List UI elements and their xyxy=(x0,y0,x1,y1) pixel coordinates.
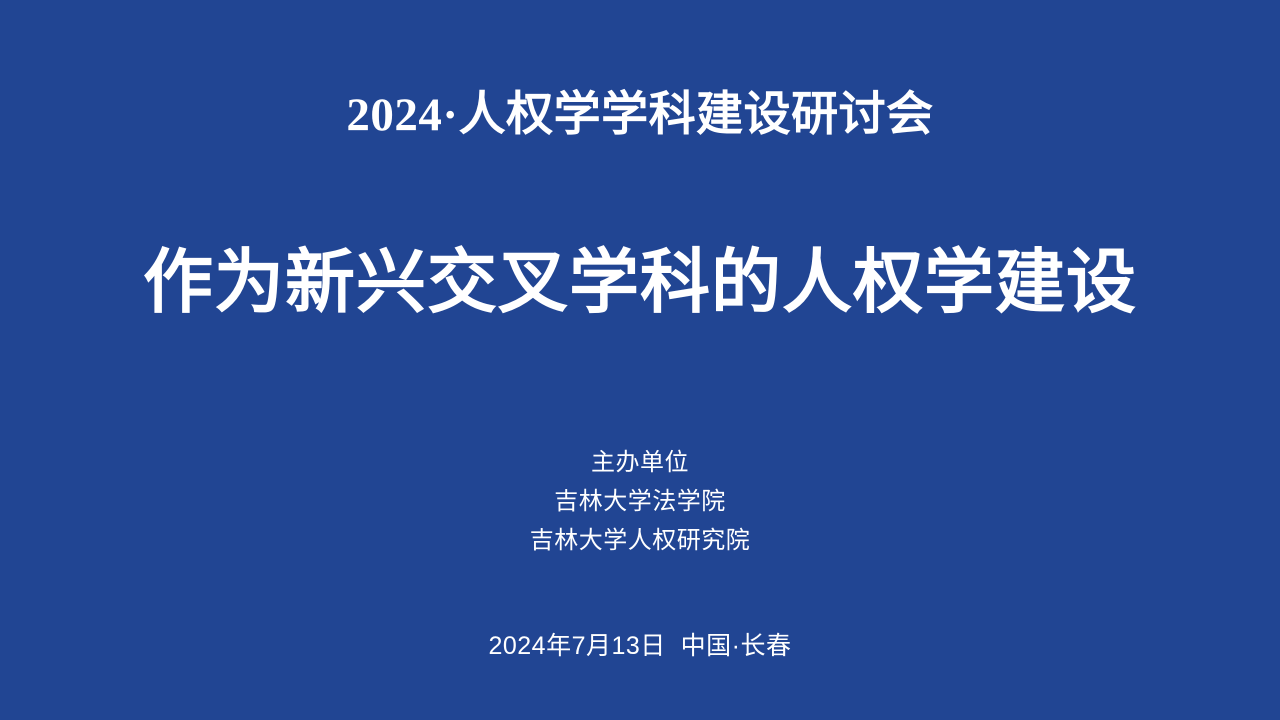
organizer-entity-law-school: 吉林大学法学院 xyxy=(0,482,1280,521)
organizer-block: 主办单位 吉林大学法学院 吉林大学人权研究院 xyxy=(0,443,1280,560)
date-venue-line: 2024年7月13日 中国·长春 xyxy=(0,630,1280,662)
page-title: 作为新兴交叉学科的人权学建设 xyxy=(0,243,1280,326)
organizer-label: 主办单位 xyxy=(0,443,1280,482)
title-slide: 2024·人权学学科建设研讨会 作为新兴交叉学科的人权学建设 主办单位 吉林大学… xyxy=(0,0,1280,720)
event-header-title: 2024·人权学学科建设研讨会 xyxy=(0,88,1280,142)
organizer-entity-human-rights-institute: 吉林大学人权研究院 xyxy=(0,521,1280,560)
